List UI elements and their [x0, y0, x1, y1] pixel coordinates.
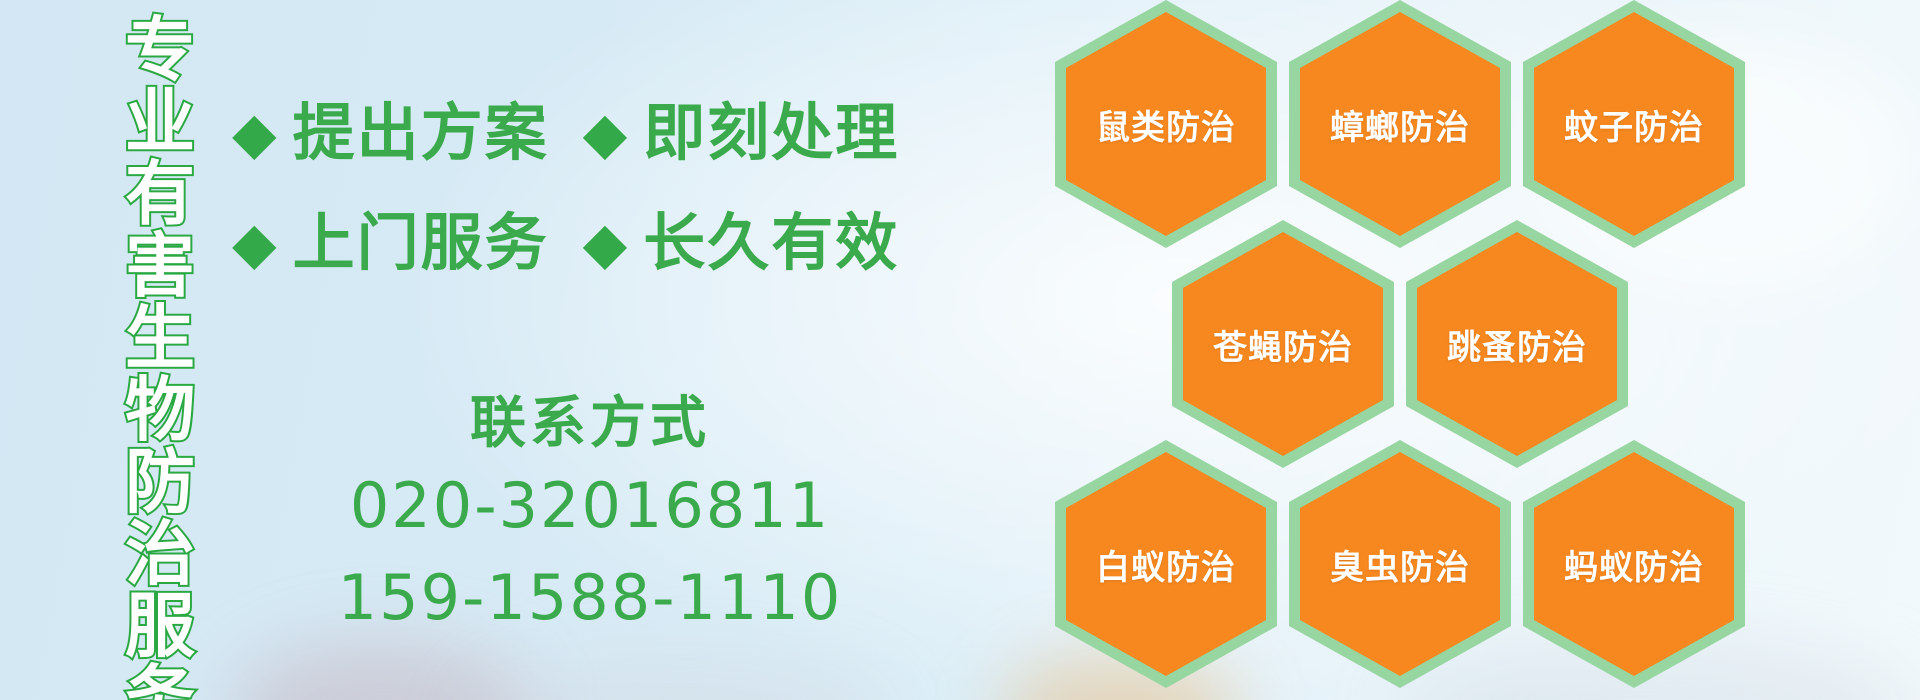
slogan-label: 即刻处理	[643, 100, 899, 166]
vertical-headline-char: 有	[125, 158, 195, 230]
vertical-headline-char: 防	[125, 446, 195, 518]
service-hex-bedbug-control[interactable]: 臭虫防治	[1289, 440, 1511, 688]
service-hex-flea-control[interactable]: 跳蚤防治	[1406, 220, 1628, 468]
vertical-headline-char: 服	[125, 590, 195, 662]
contact-phone-mobile[interactable]: 159-1588-1110	[330, 552, 850, 644]
slogan-row: ◆ 提出方案 ◆ 即刻处理	[232, 78, 899, 188]
service-hex-termite-control[interactable]: 白蚁防治	[1055, 440, 1277, 688]
slogan-row: ◆ 上门服务 ◆ 长久有效	[232, 188, 899, 298]
service-hex-label: 鼠类防治	[1055, 0, 1277, 248]
vertical-headline: 专 业 有 害 生 物 防 治 服 务	[106, 14, 214, 700]
background-bokeh-blob	[230, 640, 530, 700]
diamond-bullet-icon: ◆	[583, 214, 628, 272]
slogan-item-door-to-door-service: ◆ 上门服务	[232, 210, 549, 276]
diamond-bullet-icon: ◆	[232, 104, 277, 162]
service-hex-mosquito-control[interactable]: 蚊子防治	[1523, 0, 1745, 248]
slogan-list: ◆ 提出方案 ◆ 即刻处理 ◆ 上门服务 ◆ 长久有效	[232, 78, 899, 298]
service-hex-label: 白蚁防治	[1055, 440, 1277, 688]
slogan-item-long-lasting-effect: ◆ 长久有效	[583, 210, 900, 276]
contact-title: 联系方式	[330, 388, 850, 460]
pest-control-banner: 专 业 有 害 生 物 防 治 服 务 ◆ 提出方案 ◆ 即刻处理 ◆ 上门服务	[0, 0, 1920, 700]
service-hex-rodent-control[interactable]: 鼠类防治	[1055, 0, 1277, 248]
service-hex-label: 蚊子防治	[1523, 0, 1745, 248]
service-hex-fly-control[interactable]: 苍蝇防治	[1172, 220, 1394, 468]
background-bokeh-blob	[470, 660, 890, 700]
contact-phone-landline[interactable]: 020-32016811	[330, 460, 850, 552]
vertical-headline-char: 物	[125, 374, 195, 446]
vertical-headline-char: 生	[125, 302, 195, 374]
service-hex-cockroach-control[interactable]: 蟑螂防治	[1289, 0, 1511, 248]
vertical-headline-char: 务	[125, 662, 195, 700]
vertical-headline-char: 害	[125, 230, 195, 302]
vertical-headline-char: 专	[125, 14, 195, 86]
diamond-bullet-icon: ◆	[232, 214, 277, 272]
slogan-label: 提出方案	[293, 100, 549, 166]
slogan-label: 上门服务	[293, 210, 549, 276]
contact-block: 联系方式 020-32016811 159-1588-1110	[330, 388, 850, 644]
service-hex-label: 蟑螂防治	[1289, 0, 1511, 248]
service-hex-label: 苍蝇防治	[1172, 220, 1394, 468]
vertical-headline-char: 治	[125, 518, 195, 590]
service-hexagon-grid: 鼠类防治 蟑螂防治 蚊子防治 苍蝇防治 跳蚤防治 白蚁防治	[1055, 0, 1825, 700]
slogan-item-propose-plan: ◆ 提出方案	[232, 100, 549, 166]
service-hex-label: 蚂蚁防治	[1523, 440, 1745, 688]
vertical-headline-char: 业	[125, 86, 195, 158]
slogan-item-immediate-action: ◆ 即刻处理	[583, 100, 900, 166]
slogan-label: 长久有效	[643, 210, 899, 276]
diamond-bullet-icon: ◆	[583, 104, 628, 162]
service-hex-label: 臭虫防治	[1289, 440, 1511, 688]
service-hex-label: 跳蚤防治	[1406, 220, 1628, 468]
service-hex-ant-control[interactable]: 蚂蚁防治	[1523, 440, 1745, 688]
